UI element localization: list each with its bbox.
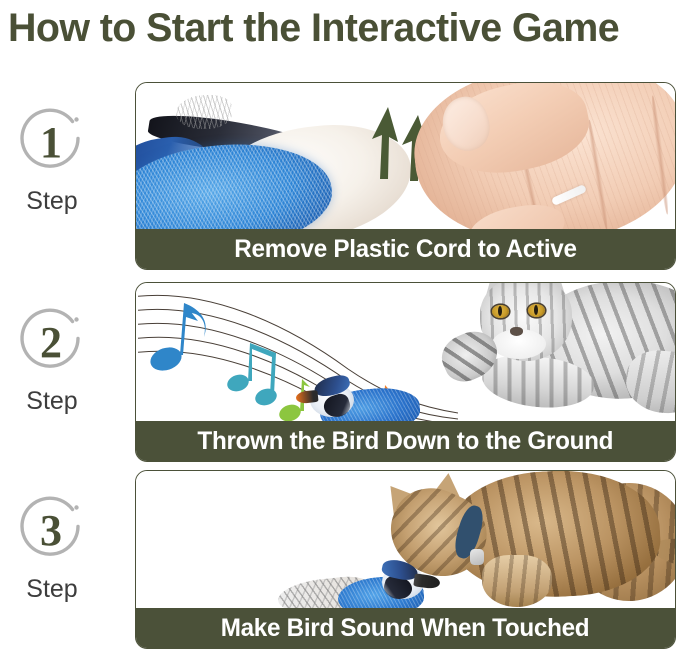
cat-pupil-right xyxy=(534,305,538,315)
step-ring-2: 2 xyxy=(12,304,90,382)
step-caption-bar-2: Thrown the Bird Down to the Ground xyxy=(136,421,675,461)
page-title: How to Start the Interactive Game xyxy=(8,2,663,54)
step-label-2: Step xyxy=(12,386,92,416)
note-blue-large xyxy=(147,303,205,374)
step-panel-2[interactable]: Thrown the Bird Down to the Ground xyxy=(135,282,676,462)
step-number-3: 3 xyxy=(12,492,90,570)
step-label-1: Step xyxy=(12,186,92,216)
step-row-2: 2 Step xyxy=(0,282,679,462)
cat-collar-tag xyxy=(470,549,484,565)
step-caption-bar-3: Make Bird Sound When Touched xyxy=(136,608,675,648)
step-caption-text-3: Make Bird Sound When Touched xyxy=(221,614,590,643)
step-photo-2 xyxy=(136,283,675,421)
cat-foreleg xyxy=(482,555,552,607)
step-row-1: 1 Step PULL xyxy=(0,82,679,270)
step-number-1: 1 xyxy=(12,104,90,182)
step-photo-1: PULL xyxy=(136,83,675,229)
hand-image xyxy=(355,83,675,229)
step-ring-1: 1 xyxy=(12,104,90,182)
cat-nose xyxy=(510,327,523,336)
step-ring-3: 3 xyxy=(12,492,90,570)
blue-jay-toy-image xyxy=(278,563,448,608)
bird-feather-tuft xyxy=(176,95,232,129)
step-row-3: 3 Step xyxy=(0,470,679,649)
bird-beak xyxy=(295,390,318,404)
blue-jay-toy-image xyxy=(296,379,426,421)
step-number-2: 2 xyxy=(12,304,90,382)
step-photo-3 xyxy=(136,471,675,608)
step-panel-1[interactable]: PULL Remove Plastic Cord to Active xyxy=(135,82,676,270)
step-marker-1: 1 Step xyxy=(0,82,130,270)
step-marker-2: 2 Step xyxy=(0,282,130,462)
grey-tabby-cat-image xyxy=(436,283,675,421)
step-caption-bar-1: Remove Plastic Cord to Active xyxy=(136,229,675,269)
step-marker-3: 3 Step xyxy=(0,470,130,649)
step-caption-text-2: Thrown the Bird Down to the Ground xyxy=(198,427,614,456)
step-label-3: Step xyxy=(12,574,92,604)
step-caption-text-1: Remove Plastic Cord to Active xyxy=(234,235,576,264)
step-panel-3[interactable]: Make Bird Sound When Touched xyxy=(135,470,676,649)
cat-pupil-left xyxy=(498,306,502,316)
